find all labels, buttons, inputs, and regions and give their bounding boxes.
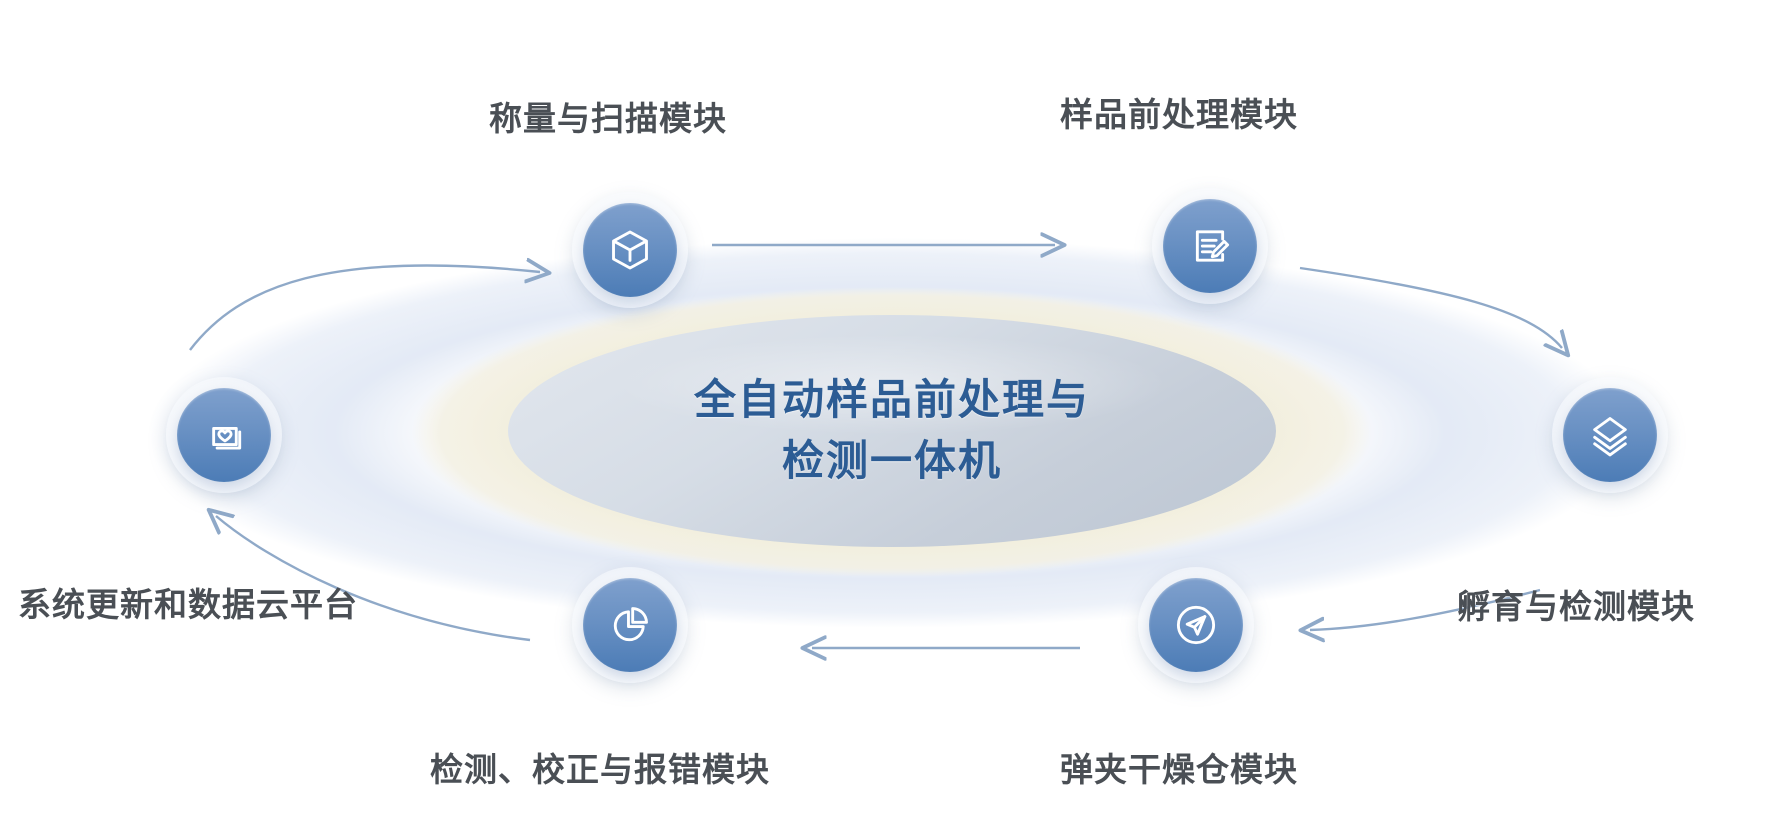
pie-chart-icon — [607, 602, 653, 648]
label-cloud: 系统更新和数据云平台 — [18, 578, 358, 626]
label-detection: 检测、校正与报错模块 — [430, 743, 770, 791]
send-icon — [1173, 602, 1219, 648]
layers-icon — [1587, 412, 1633, 458]
document-edit-icon — [1187, 223, 1233, 269]
node-drying-circle[interactable] — [1149, 578, 1243, 672]
node-detection-circle[interactable] — [583, 578, 677, 672]
node-weighing-circle[interactable] — [583, 203, 677, 297]
label-drying: 弹夹干燥仓模块 — [1060, 743, 1298, 791]
node-incubation-circle[interactable] — [1563, 388, 1657, 482]
center-title-line-2: 检测一体机 — [782, 431, 1002, 492]
photo-heart-icon — [201, 412, 247, 458]
center-title-line-1: 全自动样品前处理与 — [694, 370, 1090, 431]
node-cloud-circle[interactable] — [177, 388, 271, 482]
label-weighing: 称量与扫描模块 — [489, 92, 727, 140]
cube-icon — [607, 227, 653, 273]
label-incubation: 孵育与检测模块 — [1457, 580, 1695, 628]
center-title: 全自动样品前处理与 检测一体机 — [508, 315, 1276, 547]
diagram-canvas: 全自动样品前处理与 检测一体机 称量与扫描模块 样品前处理模块 — [0, 0, 1779, 813]
label-pretreat: 样品前处理模块 — [1060, 88, 1298, 136]
node-pretreat-circle[interactable] — [1163, 199, 1257, 293]
